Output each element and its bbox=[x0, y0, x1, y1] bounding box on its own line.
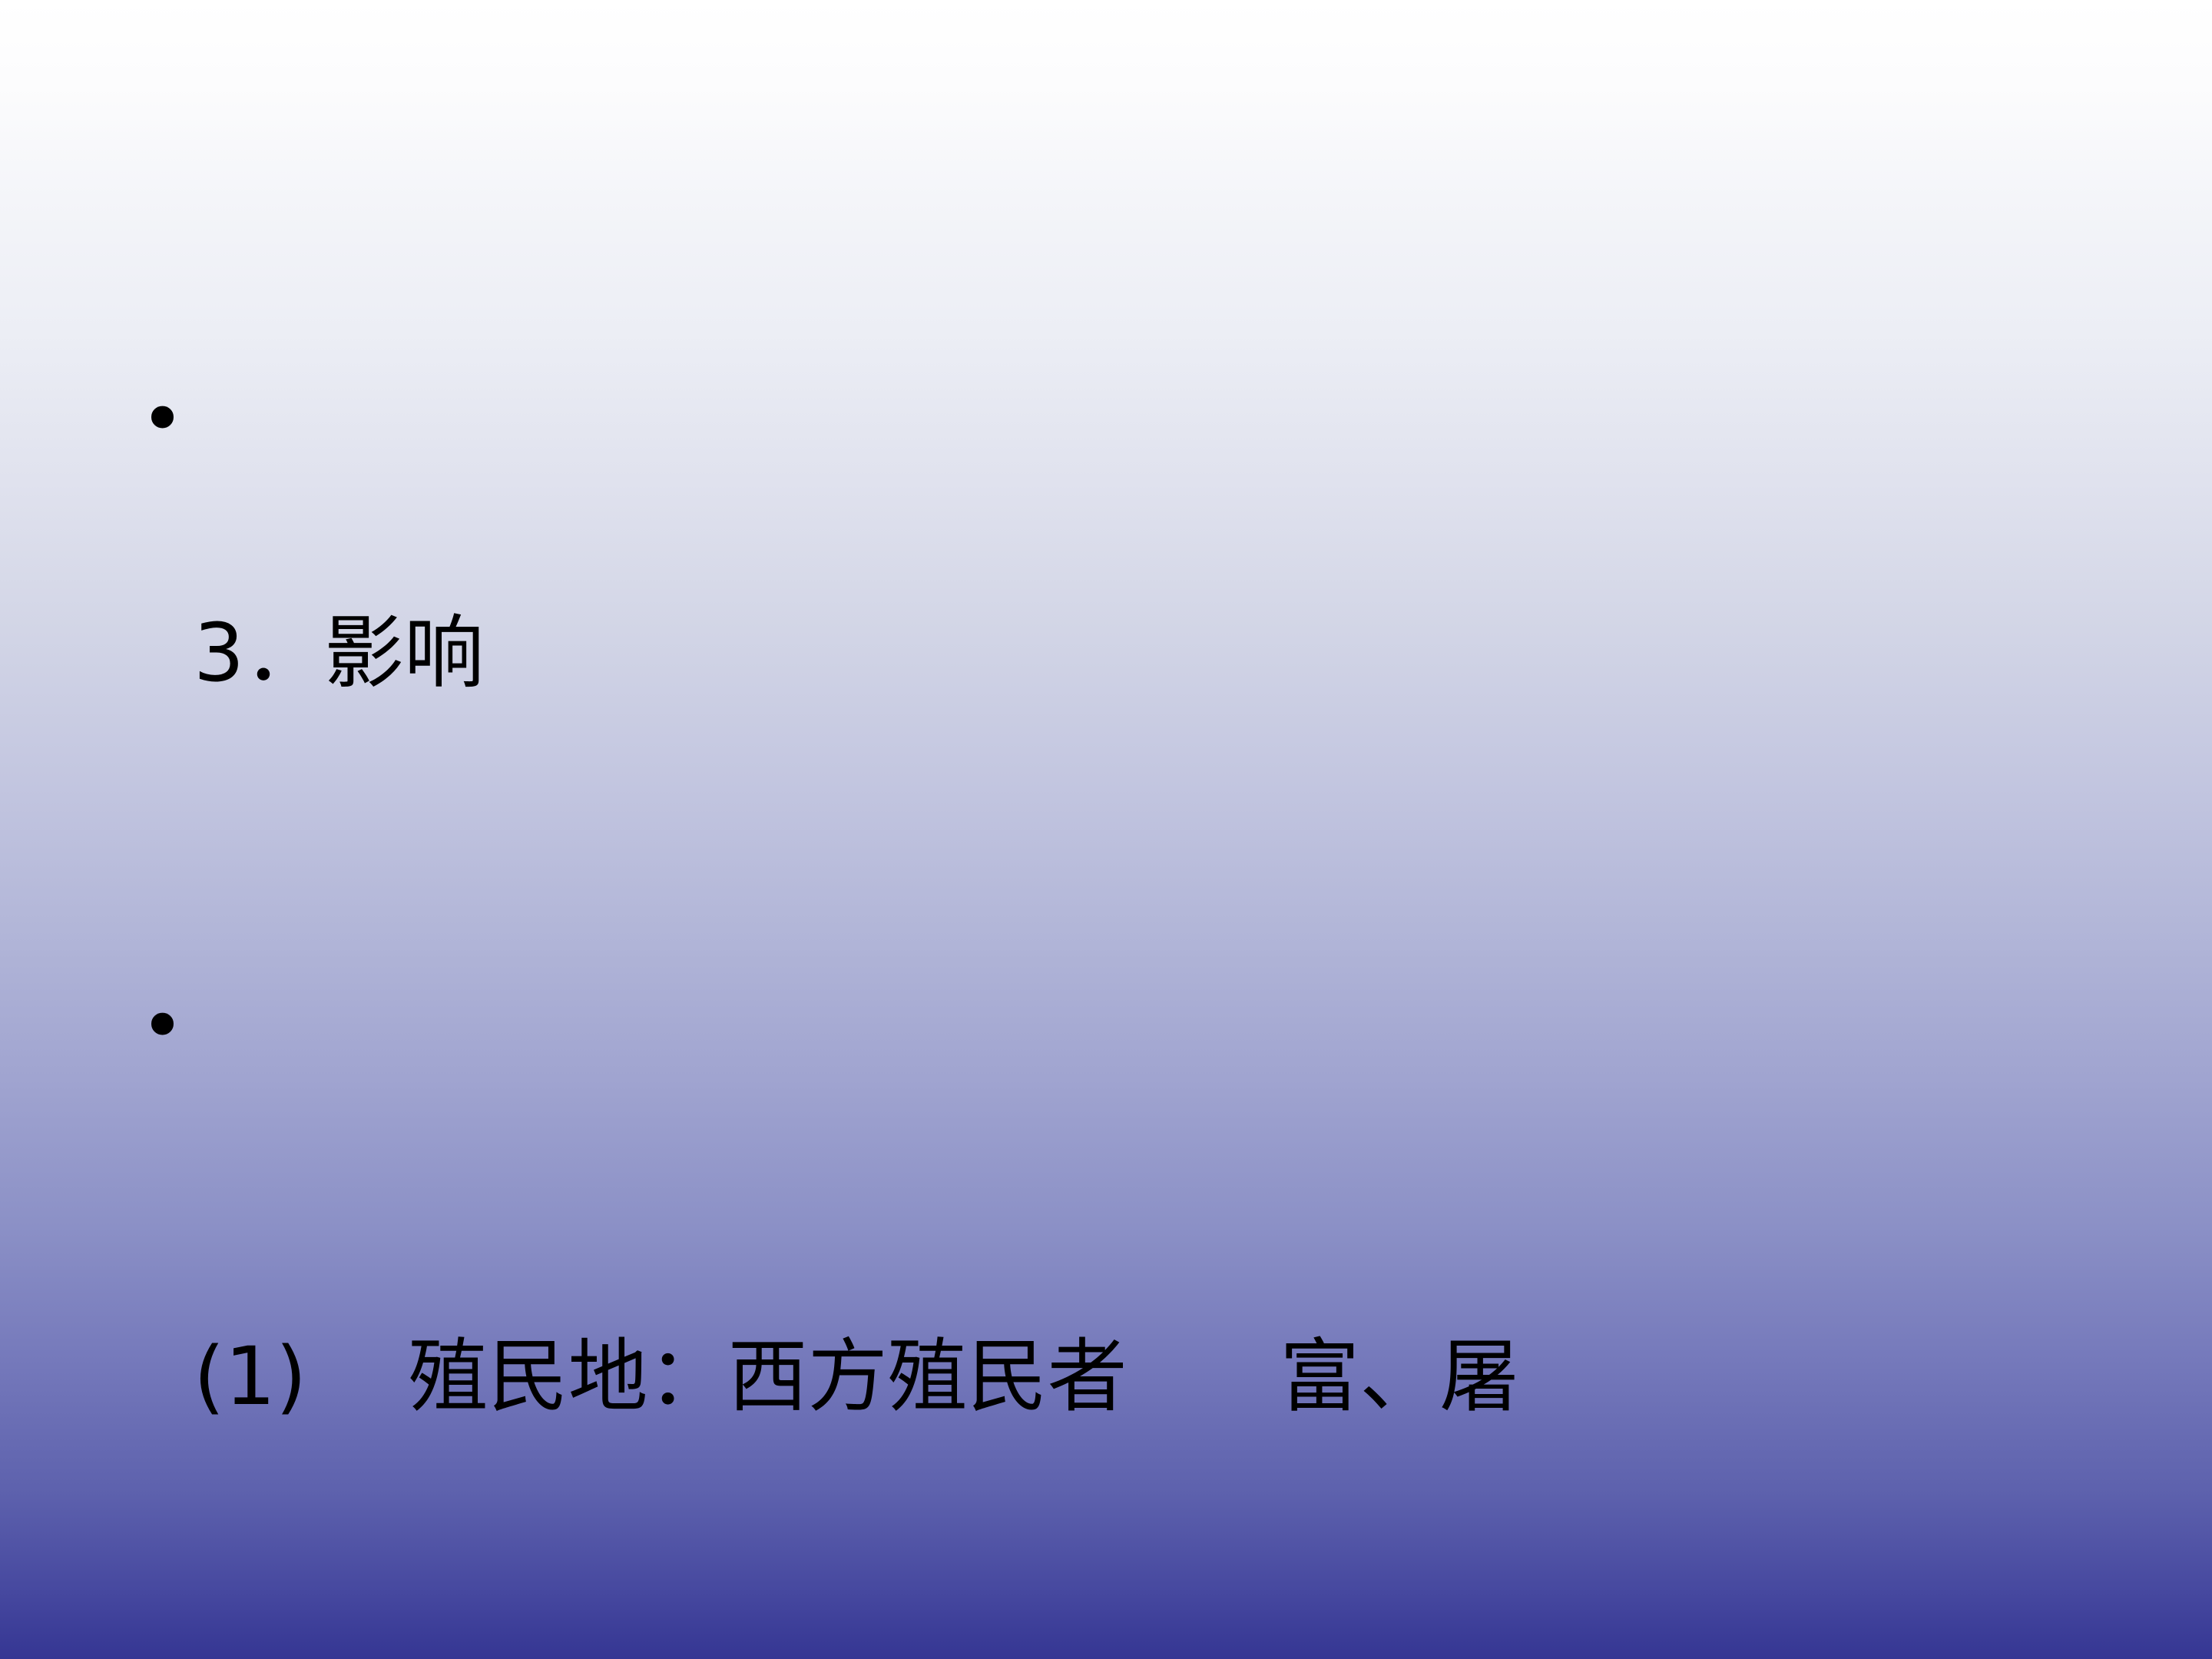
bullet-2-text: (1)殖民地：西方殖民者富、屠 印第安人、行黑奴易，被侵略地区 和人民来极大的破… bbox=[194, 968, 2197, 1659]
bullet-item-2: • (1)殖民地：西方殖民者富、屠 印第安人、行黑奴易，被侵略地区 和人民来极大… bbox=[123, 968, 2197, 1659]
bullet-marker-icon: • bbox=[123, 361, 194, 478]
text-run: (1) bbox=[194, 1330, 306, 1423]
bullet-1-text: 3．影响 bbox=[194, 361, 2197, 945]
text-run: 富、屠 bbox=[1280, 1330, 1519, 1423]
text-run: 殖民地：西方殖民者 bbox=[409, 1330, 1128, 1423]
slide-body-content: • 3．影响 • (1)殖民地：西方殖民者富、屠 印第安人、行黑奴易，被侵略地区… bbox=[123, 361, 2197, 1659]
bullet-1-line-1: 3．影响 bbox=[194, 594, 2197, 711]
text-run: 3．影响 bbox=[194, 606, 484, 700]
bullet-marker-icon: • bbox=[123, 968, 194, 1084]
bullet-item-1: • 3．影响 bbox=[123, 361, 2197, 945]
bullet-2-line-1: (1)殖民地：西方殖民者富、屠 bbox=[194, 1318, 2197, 1435]
slide-canvas: • 3．影响 • (1)殖民地：西方殖民者富、屠 印第安人、行黑奴易，被侵略地区… bbox=[0, 0, 2212, 1659]
